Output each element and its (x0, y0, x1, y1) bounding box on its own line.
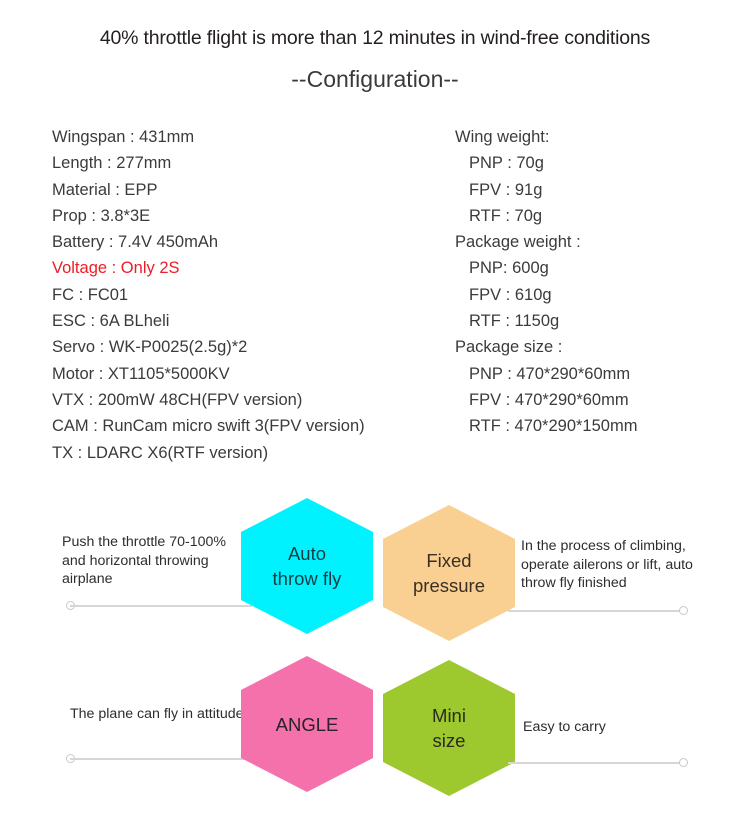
spec-item: ESC : 6A BLheli (52, 308, 365, 334)
spec-item: Wingspan : 431mm (52, 124, 365, 150)
connector-line-fixed-pressure (508, 610, 684, 612)
spec-item: Motor : XT1105*5000KV (52, 361, 365, 387)
connector-dot-fixed-pressure (679, 606, 688, 615)
spec-item: RTF : 470*290*150mm (455, 413, 637, 439)
feature-caption-mini-size: Easy to carry (523, 718, 713, 737)
hexagon-angle[interactable]: ANGLE (241, 656, 373, 792)
hexagon-label-line-2: pressure (413, 573, 485, 598)
feature-caption-fixed-pressure: In the process of climbing, operate aile… (521, 537, 726, 593)
connector-line-mini-size (508, 762, 684, 764)
hexagon-label-angle: ANGLE (276, 712, 339, 737)
spec-group-heading: Wing weight: (455, 124, 637, 150)
hexagon-label-line-1: Auto (273, 541, 342, 566)
hexagon-label-line-2: throw fly (273, 566, 342, 591)
hexagon-label-line-1: ANGLE (276, 712, 339, 737)
spec-item: Length : 277mm (52, 150, 365, 176)
hexagon-auto-throw-fly[interactable]: Auto throw fly (241, 498, 373, 634)
hexagon-fixed-pressure[interactable]: Fixed pressure (383, 505, 515, 641)
hexagon-label-auto-throw-fly: Auto throw fly (273, 541, 342, 591)
spec-item: TX : LDARC X6(RTF version) (52, 440, 365, 466)
spec-item: PNP : 70g (455, 150, 637, 176)
connector-line-angle (70, 758, 252, 760)
spec-item: Material : EPP (52, 177, 365, 203)
section-title-configuration: --Configuration-- (0, 66, 750, 93)
spec-item: FPV : 610g (455, 282, 637, 308)
spec-item: PNP: 600g (455, 255, 637, 281)
spec-item: RTF : 70g (455, 203, 637, 229)
feature-diagram: Push the throttle 70-100% and horizontal… (0, 470, 750, 814)
spec-item: Battery : 7.4V 450mAh (52, 229, 365, 255)
spec-item: PNP : 470*290*60mm (455, 361, 637, 387)
spec-group-heading: Package size : (455, 334, 637, 360)
spec-item: CAM : RunCam micro swift 3(FPV version) (52, 413, 365, 439)
spec-list-right: Wing weight: PNP : 70g FPV : 91g RTF : 7… (455, 124, 637, 440)
hexagon-label-line-1: Fixed (413, 548, 485, 573)
spec-item: FPV : 91g (455, 177, 637, 203)
page-headline: 40% throttle flight is more than 12 minu… (0, 27, 750, 50)
spec-list-left: Wingspan : 431mm Length : 277mm Material… (52, 124, 365, 466)
spec-item: Servo : WK-P0025(2.5g)*2 (52, 334, 365, 360)
spec-item: RTF : 1150g (455, 308, 637, 334)
spec-item: VTX : 200mW 48CH(FPV version) (52, 387, 365, 413)
connector-dot-mini-size (679, 758, 688, 767)
spec-item-voltage-alert: Voltage : Only 2S (52, 255, 365, 281)
hexagon-label-mini-size: Mini size (432, 703, 466, 753)
feature-caption-angle: The plane can fly in attitude (70, 705, 245, 724)
hexagon-mini-size[interactable]: Mini size (383, 660, 515, 796)
hexagon-label-fixed-pressure: Fixed pressure (413, 548, 485, 598)
hexagon-label-line-2: size (432, 728, 466, 753)
spec-item: FC : FC01 (52, 282, 365, 308)
spec-item: Prop : 3.8*3E (52, 203, 365, 229)
connector-line-auto-throw-fly (70, 605, 252, 607)
spec-item: FPV : 470*290*60mm (455, 387, 637, 413)
feature-caption-auto-throw-fly: Push the throttle 70-100% and horizontal… (62, 533, 242, 589)
hexagon-label-line-1: Mini (432, 703, 466, 728)
spec-group-heading: Package weight : (455, 229, 637, 255)
